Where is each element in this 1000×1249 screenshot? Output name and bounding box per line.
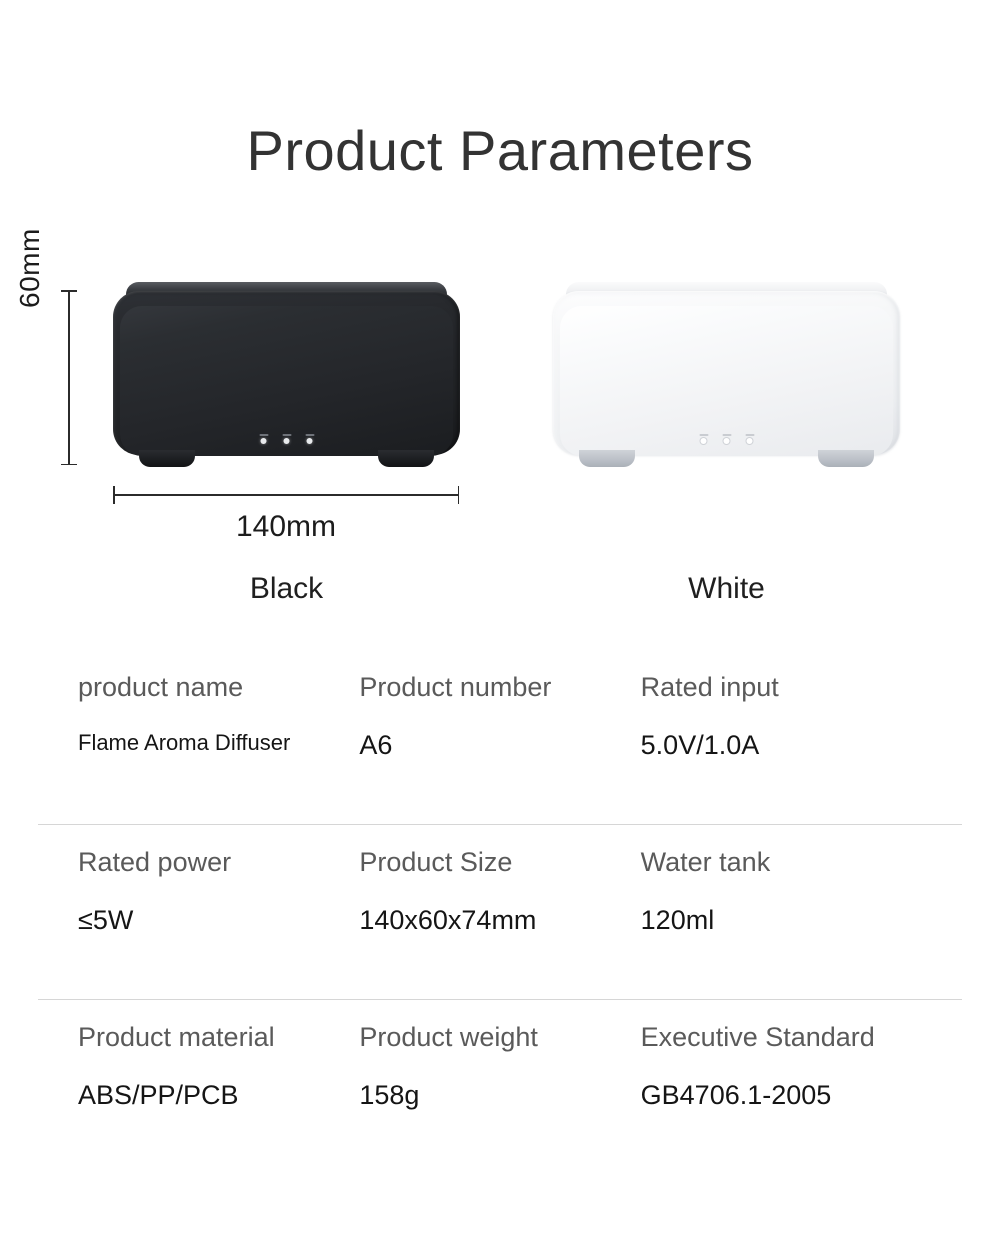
spec-row: Rated power ≤5W Product Size 140x60x74mm… xyxy=(0,825,1000,1000)
spec-cell: Product material ABS/PP/PCB xyxy=(78,1000,359,1175)
dimension-cap-bottom xyxy=(61,464,77,466)
spec-row: product name Flame Aroma Diffuser Produc… xyxy=(0,650,1000,825)
dimension-line-stroke xyxy=(113,494,459,496)
spec-label: product name xyxy=(78,672,359,703)
product-foot-left xyxy=(579,450,635,467)
dimension-cap-right xyxy=(458,486,460,504)
product-body xyxy=(113,291,460,455)
spec-cell: product name Flame Aroma Diffuser xyxy=(78,650,359,825)
spec-value: ABS/PP/PCB xyxy=(78,1080,359,1111)
spec-label: Rated power xyxy=(78,847,359,878)
spec-cell: Rated input 5.0V/1.0A xyxy=(641,650,922,825)
led-indicator-cluster xyxy=(259,434,314,444)
spec-label: Product material xyxy=(78,1022,359,1053)
page-title: Product Parameters xyxy=(0,118,1000,183)
spec-value: GB4706.1-2005 xyxy=(641,1080,922,1111)
spec-label: Product Size xyxy=(359,847,640,878)
spec-cell: Product weight 158g xyxy=(359,1000,640,1175)
led-dot-icon xyxy=(284,438,290,444)
product-body xyxy=(553,291,900,455)
product-image-white xyxy=(553,282,900,474)
led-tick-icon xyxy=(722,434,731,436)
product-foot-right xyxy=(378,450,434,467)
led-tick-icon xyxy=(305,434,314,436)
spec-value: Flame Aroma Diffuser xyxy=(78,730,359,756)
led-tick-icon xyxy=(282,434,291,436)
dimension-cap-left xyxy=(113,486,115,504)
spec-value: 5.0V/1.0A xyxy=(641,730,922,761)
led-dot-icon xyxy=(307,438,313,444)
led-tick-icon xyxy=(745,434,754,436)
led-indicator-2 xyxy=(722,434,731,444)
spec-cell: Executive Standard GB4706.1-2005 xyxy=(641,1000,922,1175)
led-dot-icon xyxy=(747,438,753,444)
spec-value: ≤5W xyxy=(78,905,359,936)
spec-value: 140x60x74mm xyxy=(359,905,640,936)
spec-label: Product number xyxy=(359,672,640,703)
led-tick-icon xyxy=(259,434,268,436)
height-dimension-line xyxy=(68,290,70,465)
variant-label-white: White xyxy=(553,572,900,606)
width-dimension-line xyxy=(113,494,459,496)
led-tick-icon xyxy=(699,434,708,436)
product-image-black xyxy=(113,282,460,474)
height-dimension-label: 60mm xyxy=(14,228,46,308)
spec-label: Water tank xyxy=(641,847,922,878)
spec-cell: Product number A6 xyxy=(359,650,640,825)
spec-label: Product weight xyxy=(359,1022,640,1053)
spec-value: A6 xyxy=(359,730,640,761)
led-indicator-3 xyxy=(305,434,314,444)
spec-label: Rated input xyxy=(641,672,922,703)
spec-value: 120ml xyxy=(641,905,922,936)
led-dot-icon xyxy=(261,438,267,444)
product-foot-left xyxy=(139,450,195,467)
led-indicator-2 xyxy=(282,434,291,444)
spec-label: Executive Standard xyxy=(641,1022,922,1053)
spec-value: 158g xyxy=(359,1080,640,1111)
product-showcase: 60mm xyxy=(0,260,1000,610)
led-dot-icon xyxy=(701,438,707,444)
spec-cell: Rated power ≤5W xyxy=(78,825,359,1000)
width-dimension-label: 140mm xyxy=(113,510,459,544)
variant-label-black: Black xyxy=(113,572,460,606)
spec-cell: Water tank 120ml xyxy=(641,825,922,1000)
led-indicator-3 xyxy=(745,434,754,444)
led-indicator-1 xyxy=(699,434,708,444)
product-foot-right xyxy=(818,450,874,467)
dimension-cap-top xyxy=(61,290,77,292)
spec-cell: Product Size 140x60x74mm xyxy=(359,825,640,1000)
led-indicator-1 xyxy=(259,434,268,444)
led-dot-icon xyxy=(724,438,730,444)
led-indicator-cluster xyxy=(699,434,754,444)
spec-row: Product material ABS/PP/PCB Product weig… xyxy=(0,1000,1000,1175)
specifications-table: product name Flame Aroma Diffuser Produc… xyxy=(0,650,1000,1175)
dimension-line-stroke xyxy=(68,290,70,465)
